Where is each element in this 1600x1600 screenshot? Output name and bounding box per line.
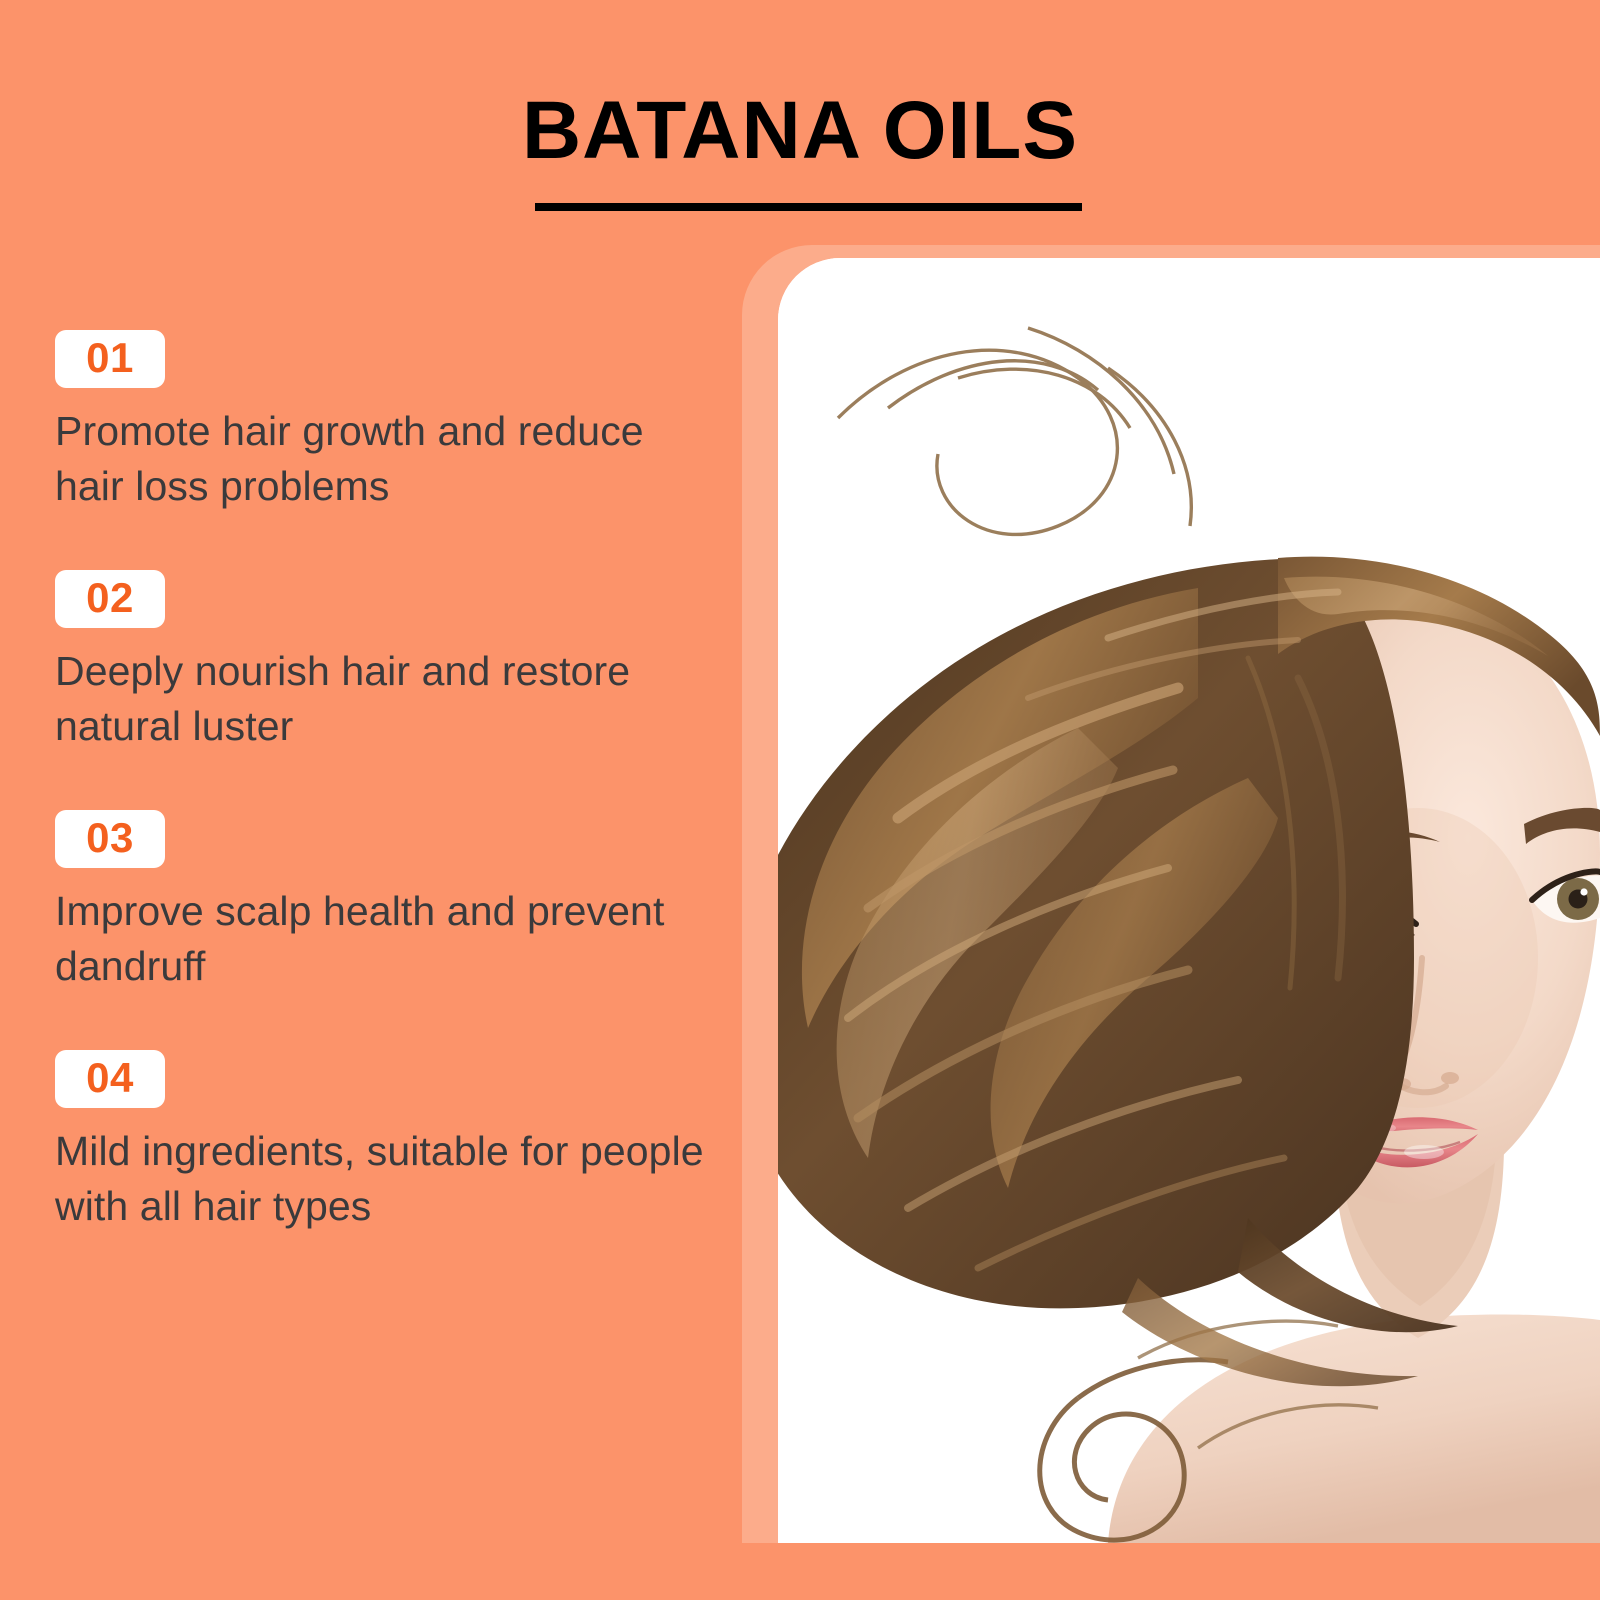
feature-number: 01 [86,334,134,381]
feature-badge-02: 02 [55,570,165,628]
feature-list: 01 Promote hair growth and reduce hair l… [55,330,715,1290]
feature-badge-03: 03 [55,810,165,868]
photo-panel [778,258,1600,1543]
list-item: 01 Promote hair growth and reduce hair l… [55,330,715,570]
feature-badge-01: 01 [55,330,165,388]
feature-number: 03 [86,814,134,861]
list-item: 04 Mild ingredients, suitable for people… [55,1050,715,1290]
title-underline [535,203,1082,211]
infographic-poster: BATANA OILS [0,0,1600,1600]
feature-description: Mild ingredients, suitable for people wi… [55,1124,715,1234]
list-item: 02 Deeply nourish hair and restore natur… [55,570,715,810]
hair-model-illustration [778,258,1600,1543]
title-block: BATANA OILS [0,90,1600,172]
feature-badge-04: 04 [55,1050,165,1108]
hair-model-photo [778,258,1600,1543]
list-item: 03 Improve scalp health and prevent dand… [55,810,715,1050]
feature-description: Deeply nourish hair and restore natural … [55,644,715,754]
feature-number: 04 [86,1054,134,1101]
feature-description: Improve scalp health and prevent dandruf… [55,884,715,994]
feature-description: Promote hair growth and reduce hair loss… [55,404,715,514]
page-title: BATANA OILS [522,90,1078,172]
feature-number: 02 [86,574,134,621]
